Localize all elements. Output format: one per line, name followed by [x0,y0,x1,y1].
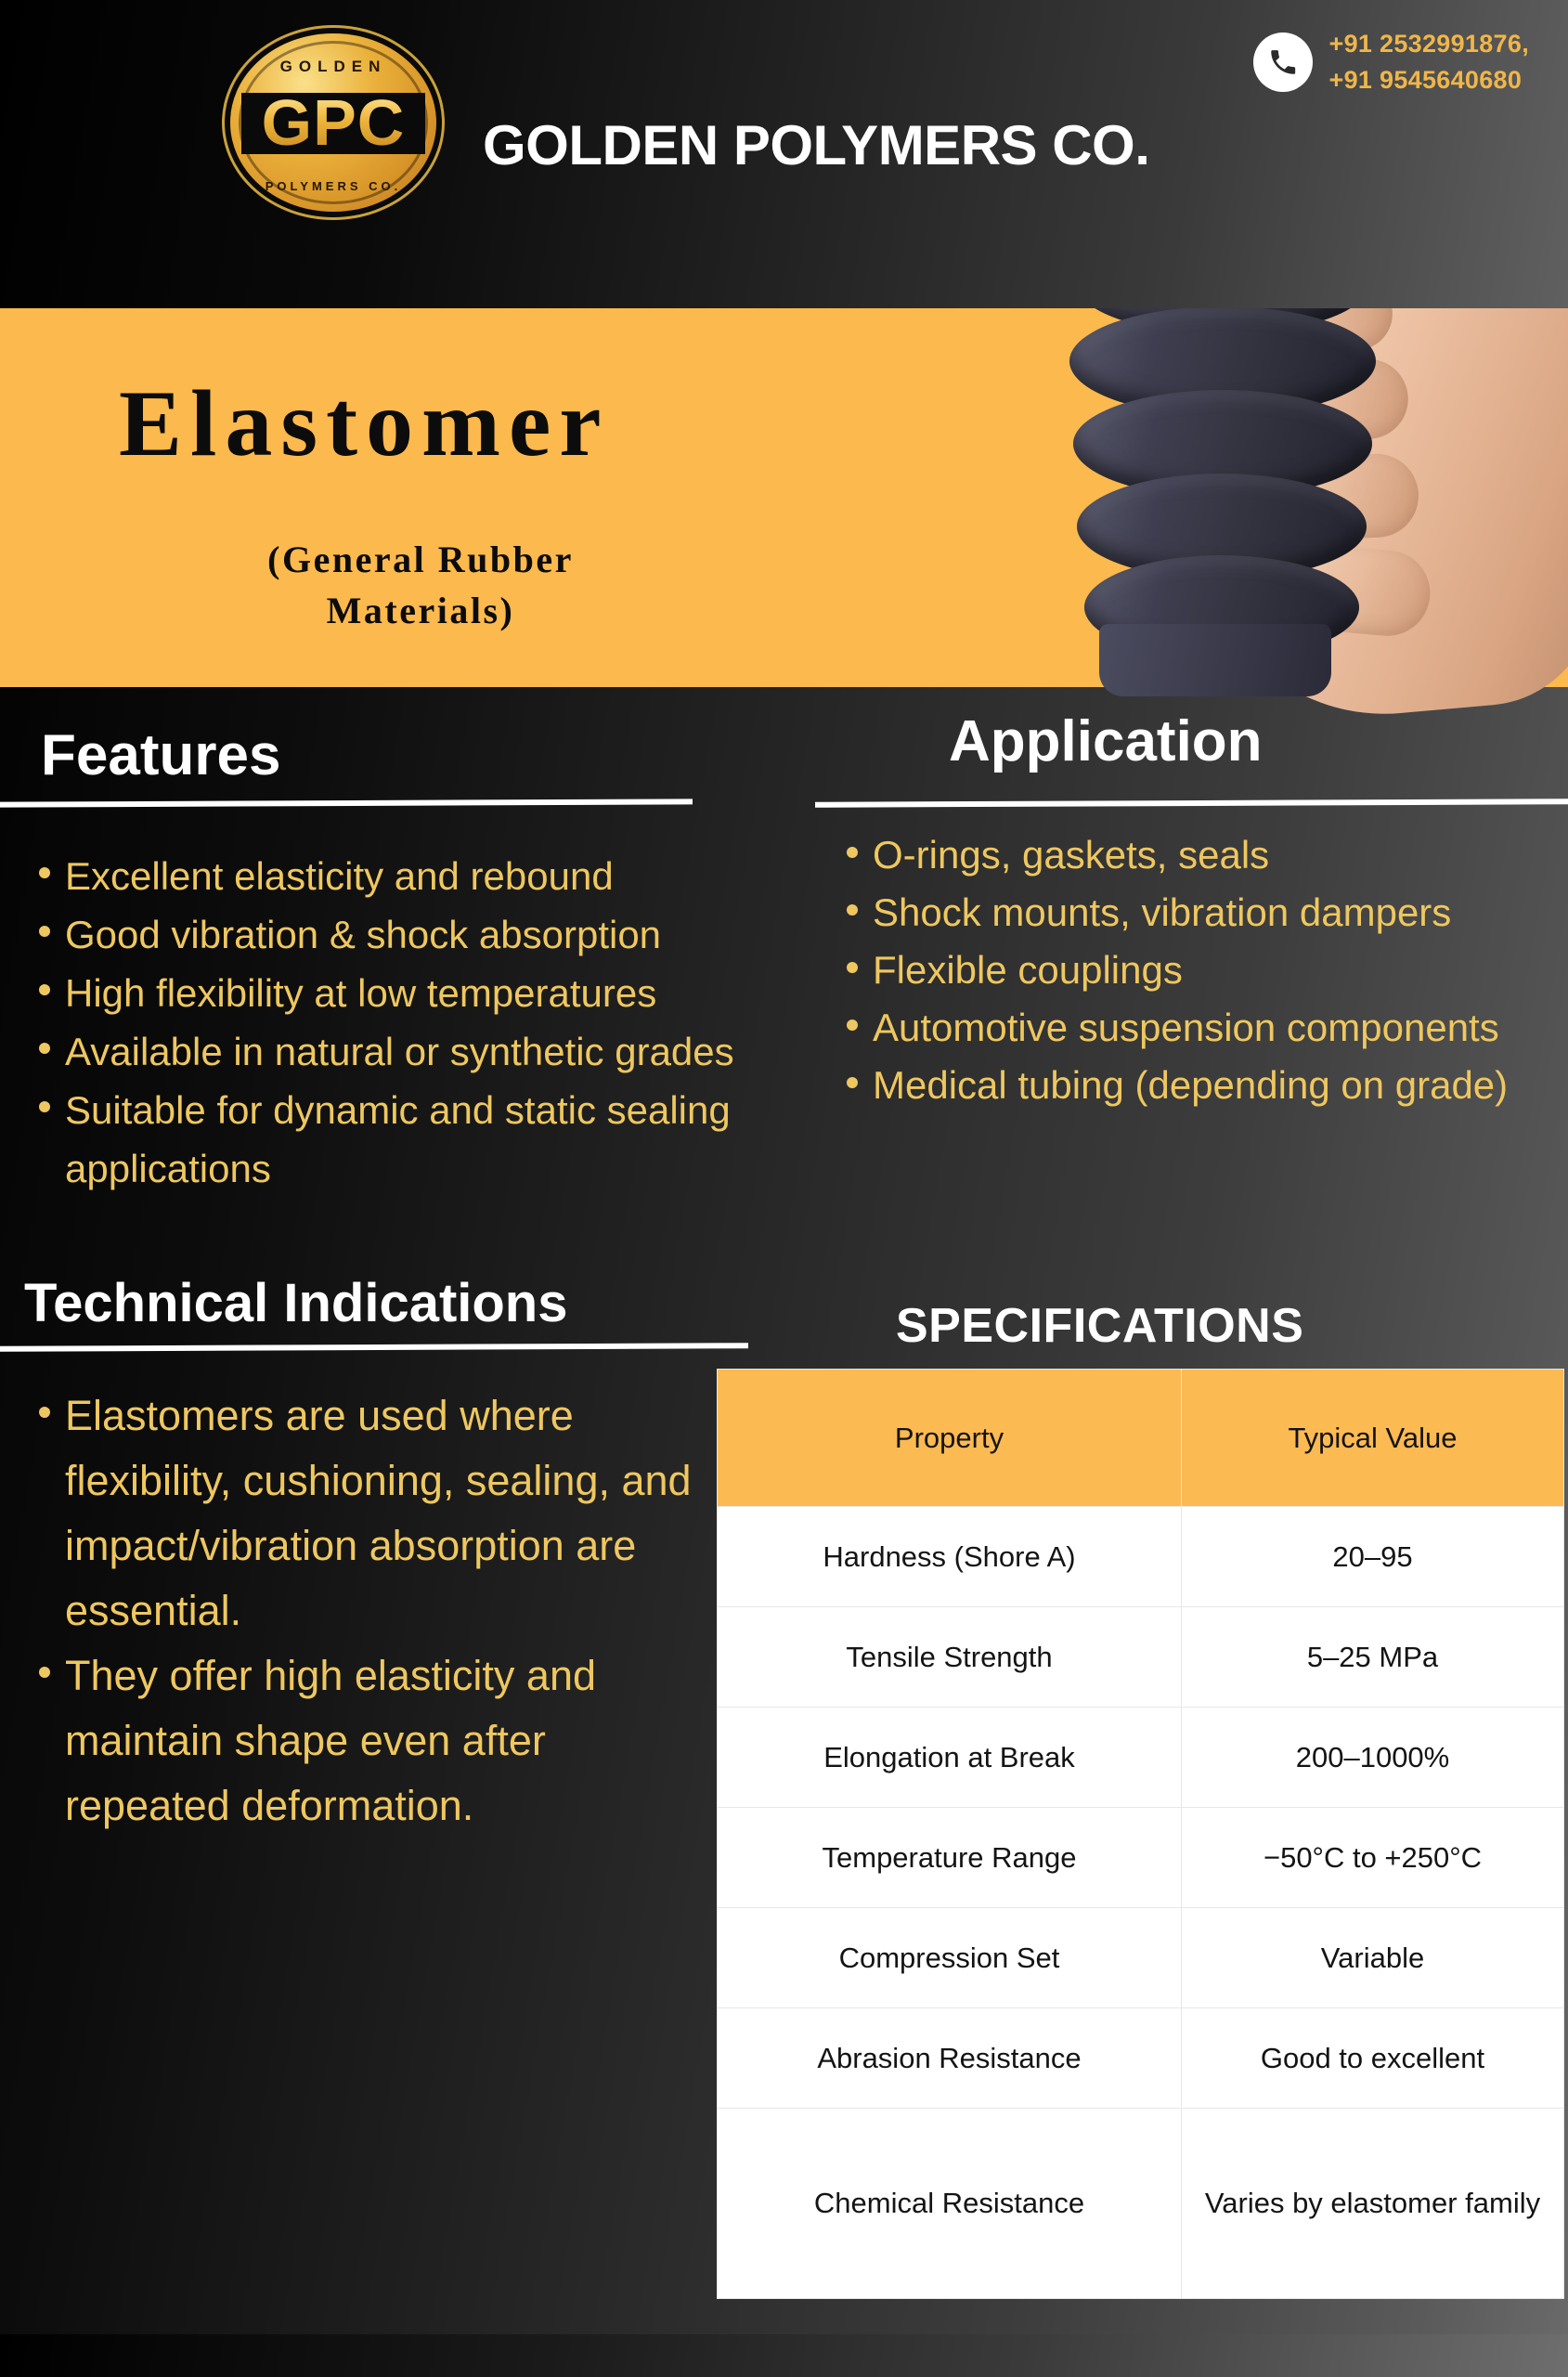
cell-property: Hardness (Shore A) [718,1507,1182,1607]
product-subtitle-line-2: Materials) [221,585,620,636]
application-list: O-rings, gaskets, seals Shock mounts, vi… [836,826,1541,1114]
technical-heading: Technical Indications [24,1272,568,1334]
cell-value: 200–1000% [1182,1708,1564,1808]
phone-number-2: +91 9545640680 [1329,62,1529,98]
list-item: Elastomers are used where flexibility, c… [28,1383,706,1643]
phone-number-1: +91 2532991876, [1329,26,1529,62]
list-item: Excellent elasticity and rebound [28,847,798,905]
cell-property: Temperature Range [718,1808,1182,1908]
specifications-table: Property Typical Value Hardness (Shore A… [717,1369,1564,2299]
list-item: Shock mounts, vibration dampers [836,884,1541,942]
table-row: Abrasion Resistance Good to excellent [718,2008,1564,2109]
cell-value: Varies by elastomer family [1182,2109,1564,2299]
contact-block: +91 2532991876, +91 9545640680 [1253,26,1529,98]
phone-numbers: +91 2532991876, +91 9545640680 [1329,26,1529,98]
column-header-property: Property [718,1370,1182,1507]
table-row: Elongation at Break 200–1000% [718,1708,1564,1808]
logo-monogram: GPC [230,91,436,154]
bottom-strip [0,2334,1568,2377]
phone-icon [1253,32,1313,92]
technical-underline [0,1343,748,1352]
features-heading: Features [41,722,280,788]
list-item: High flexibility at low temperatures [28,964,798,1022]
logo-arc-top-text: GOLDEN [230,58,436,76]
table-header-row: Property Typical Value [718,1370,1564,1507]
cell-value: −50°C to +250°C [1182,1808,1564,1908]
application-heading: Application [949,708,1263,774]
logo-arc-bottom-text: POLYMERS CO. [230,179,436,193]
cell-value: Variable [1182,1908,1564,2008]
table-row: Chemical Resistance Varies by elastomer … [718,2109,1564,2299]
features-underline [0,799,693,807]
table-row: Hardness (Shore A) 20–95 [718,1507,1564,1607]
application-underline [815,799,1568,808]
list-item: Available in natural or synthetic grades [28,1022,798,1081]
list-item: Automotive suspension components [836,999,1541,1057]
page-header: GOLDEN GPC POLYMERS CO. GOLDEN POLYMERS … [0,0,1568,308]
product-subtitle-line-1: (General Rubber [221,534,620,585]
list-item: Flexible couplings [836,942,1541,999]
table-row: Tensile Strength 5–25 MPa [718,1607,1564,1708]
list-item: They offer high elasticity and maintain … [28,1643,706,1838]
table-row: Compression Set Variable [718,1908,1564,2008]
list-item: Good vibration & shock absorption [28,905,798,964]
list-item: Suitable for dynamic and static sealing … [28,1081,798,1198]
product-title: Elastomer [119,370,610,478]
brand-name: GOLDEN POLYMERS CO. [483,113,1149,177]
product-subtitle: (General Rubber Materials) [221,534,620,636]
bellows-foot [1099,624,1331,696]
cell-property: Compression Set [718,1908,1182,2008]
cell-value: 5–25 MPa [1182,1607,1564,1708]
company-logo: GOLDEN GPC POLYMERS CO. [230,33,436,212]
features-list: Excellent elasticity and rebound Good vi… [28,847,798,1198]
cell-property: Chemical Resistance [718,2109,1182,2299]
list-item: O-rings, gaskets, seals [836,826,1541,884]
table-row: Temperature Range −50°C to +250°C [718,1808,1564,1908]
technical-list: Elastomers are used where flexibility, c… [28,1383,706,1838]
list-item: Medical tubing (depending on grade) [836,1057,1541,1114]
datasheet-page: GOLDEN GPC POLYMERS CO. GOLDEN POLYMERS … [0,0,1568,2377]
specifications-heading: SPECIFICATIONS [896,1298,1303,1354]
column-header-value: Typical Value [1182,1370,1564,1507]
cell-value: 20–95 [1182,1507,1564,1607]
cell-property: Abrasion Resistance [718,2008,1182,2109]
cell-property: Elongation at Break [718,1708,1182,1808]
cell-value: Good to excellent [1182,2008,1564,2109]
cell-property: Tensile Strength [718,1607,1182,1708]
